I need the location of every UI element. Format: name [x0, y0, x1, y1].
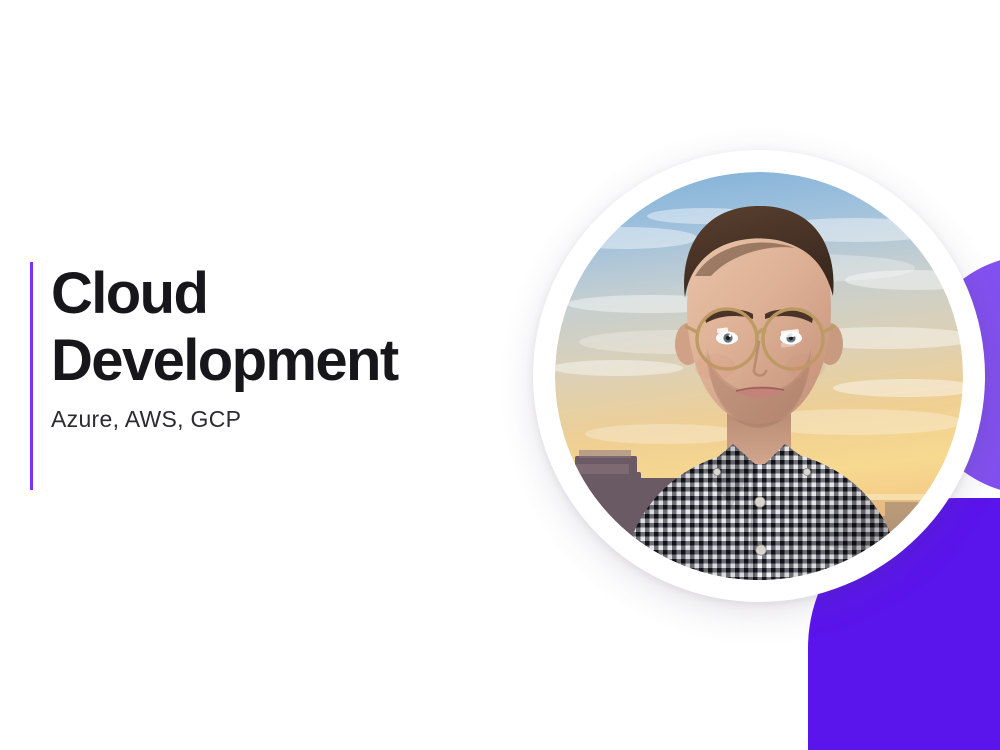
- portrait-illustration: [555, 172, 963, 580]
- title-text-group: Cloud Development Azure, AWS, GCP: [33, 262, 398, 490]
- title-block: Cloud Development Azure, AWS, GCP: [30, 262, 398, 490]
- avatar: [533, 150, 985, 602]
- avatar-photo: [555, 172, 963, 580]
- slide-canvas: Cloud Development Azure, AWS, GCP: [0, 0, 1000, 750]
- page-title-line-2: Development: [51, 331, 398, 390]
- page-title-line-1: Cloud: [51, 264, 398, 323]
- subtitle: Azure, AWS, GCP: [51, 406, 398, 433]
